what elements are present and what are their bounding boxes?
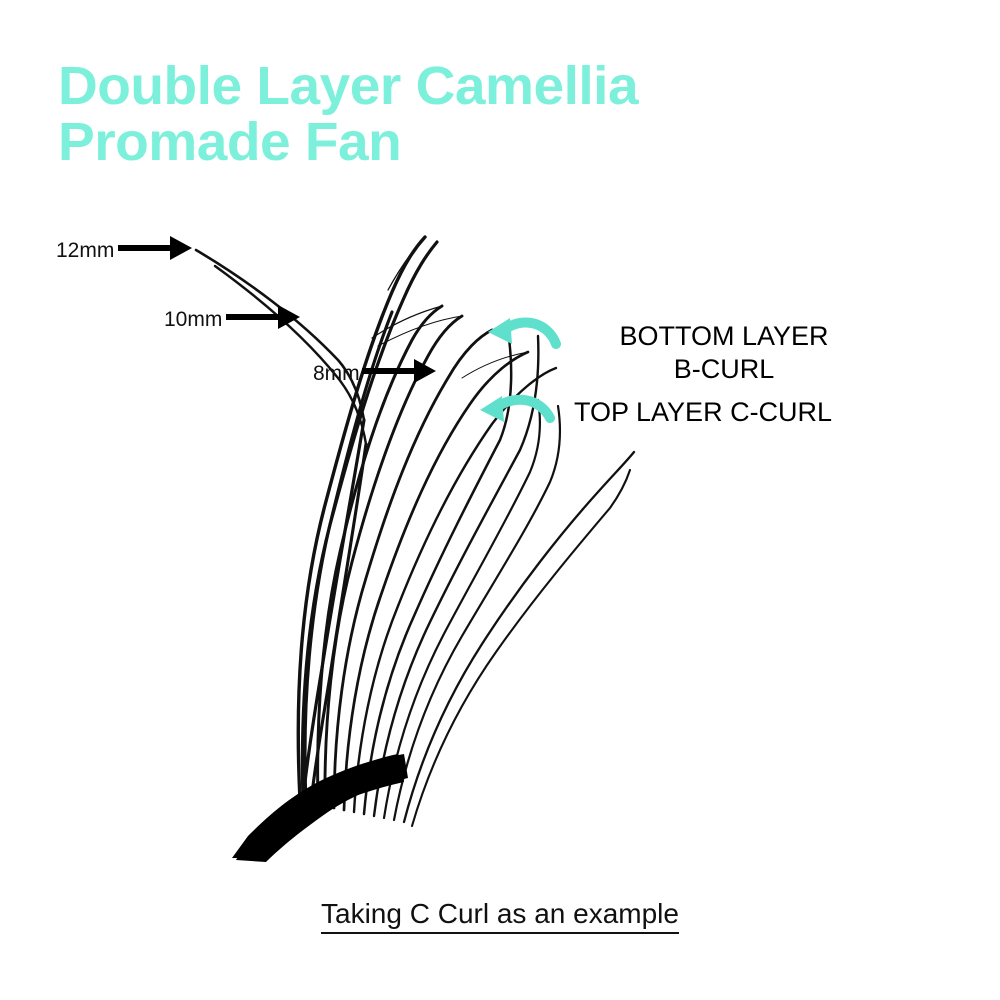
lash-strand-14 <box>394 406 560 820</box>
bottom-layer-label: BOTTOM LAYER B-CURL <box>574 320 874 386</box>
lash-strand-11 <box>364 330 511 814</box>
dimension-label-10mm: 10mm <box>164 308 222 332</box>
dimension-label-12mm: 12mm <box>56 239 114 263</box>
lash-strands <box>196 237 634 826</box>
lash-strand-5a <box>215 266 366 444</box>
lash-strand-12 <box>374 336 538 816</box>
top-layer-label: TOP LAYER C-CURL <box>574 396 874 429</box>
footnote-text: Taking C Curl as an example <box>321 898 679 934</box>
right-arrow-icon-12mm <box>118 236 192 260</box>
bottom-layer-line-1: BOTTOM LAYER <box>574 320 874 353</box>
lash-base-stem <box>232 754 408 862</box>
lash-strand-4a <box>196 250 364 420</box>
lash-strand-4 <box>196 250 368 802</box>
title-line-2: Promade Fan <box>58 114 894 170</box>
lash-strand-16 <box>412 470 630 826</box>
top-layer-line-1: TOP LAYER C-CURL <box>574 396 874 429</box>
curl-arrow-bottom-layer <box>488 318 556 344</box>
footnote: Taking C Curl as an example <box>0 898 1000 930</box>
lash-strand-15 <box>404 452 634 822</box>
product-infographic: Double Layer Camellia Promade Fan 12mm 1… <box>0 0 1000 1000</box>
lash-strand-9 <box>344 352 528 810</box>
page-title: Double Layer Camellia Promade Fan <box>58 58 878 170</box>
bottom-layer-line-2: B-CURL <box>574 353 874 386</box>
title-line-1: Double Layer Camellia <box>58 58 894 114</box>
curl-arrows <box>480 318 556 422</box>
lash-strand-1 <box>298 237 425 800</box>
dimension-label-8mm: 8mm <box>313 362 360 386</box>
